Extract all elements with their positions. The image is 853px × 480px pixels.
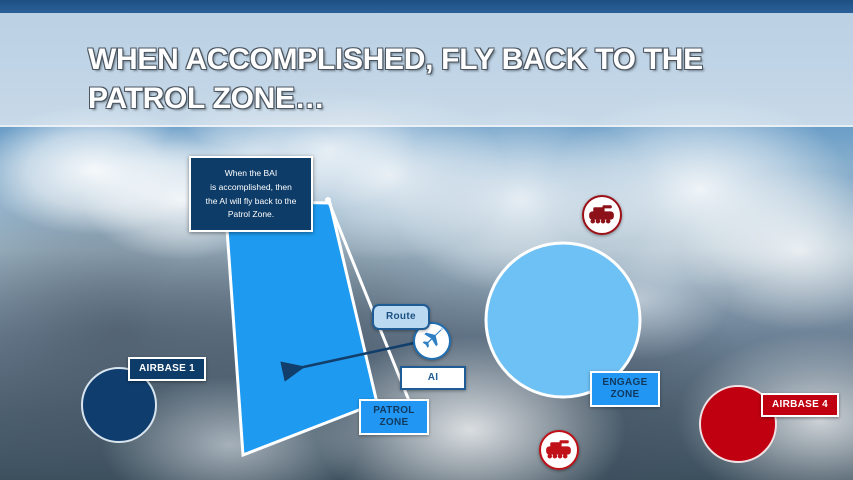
armored-vehicle-icon bbox=[584, 197, 620, 232]
label-patrol-zone[interactable]: PATROL ZONE bbox=[359, 399, 429, 435]
patrol-zone-polygon[interactable] bbox=[225, 201, 377, 455]
callout-box: When the BAI is accomplished, then the A… bbox=[189, 156, 313, 232]
enemy-unit-token-north[interactable] bbox=[582, 195, 622, 235]
label-airbase-4[interactable]: AIRBASE 4 bbox=[761, 393, 839, 417]
label-airbase-1[interactable]: AIRBASE 1 bbox=[128, 357, 206, 381]
enemy-unit-token-south[interactable] bbox=[539, 430, 579, 470]
label-ai[interactable]: AI bbox=[400, 366, 466, 390]
armored-vehicle-icon bbox=[541, 432, 577, 467]
slide-canvas: WHEN ACCOMPLISHED, FLY BACK TO THE PATRO… bbox=[0, 0, 853, 480]
label-engage-zone[interactable]: ENGAGE ZONE bbox=[590, 371, 660, 407]
label-route[interactable]: Route bbox=[372, 304, 430, 330]
route-leader-endpoint bbox=[325, 197, 331, 203]
